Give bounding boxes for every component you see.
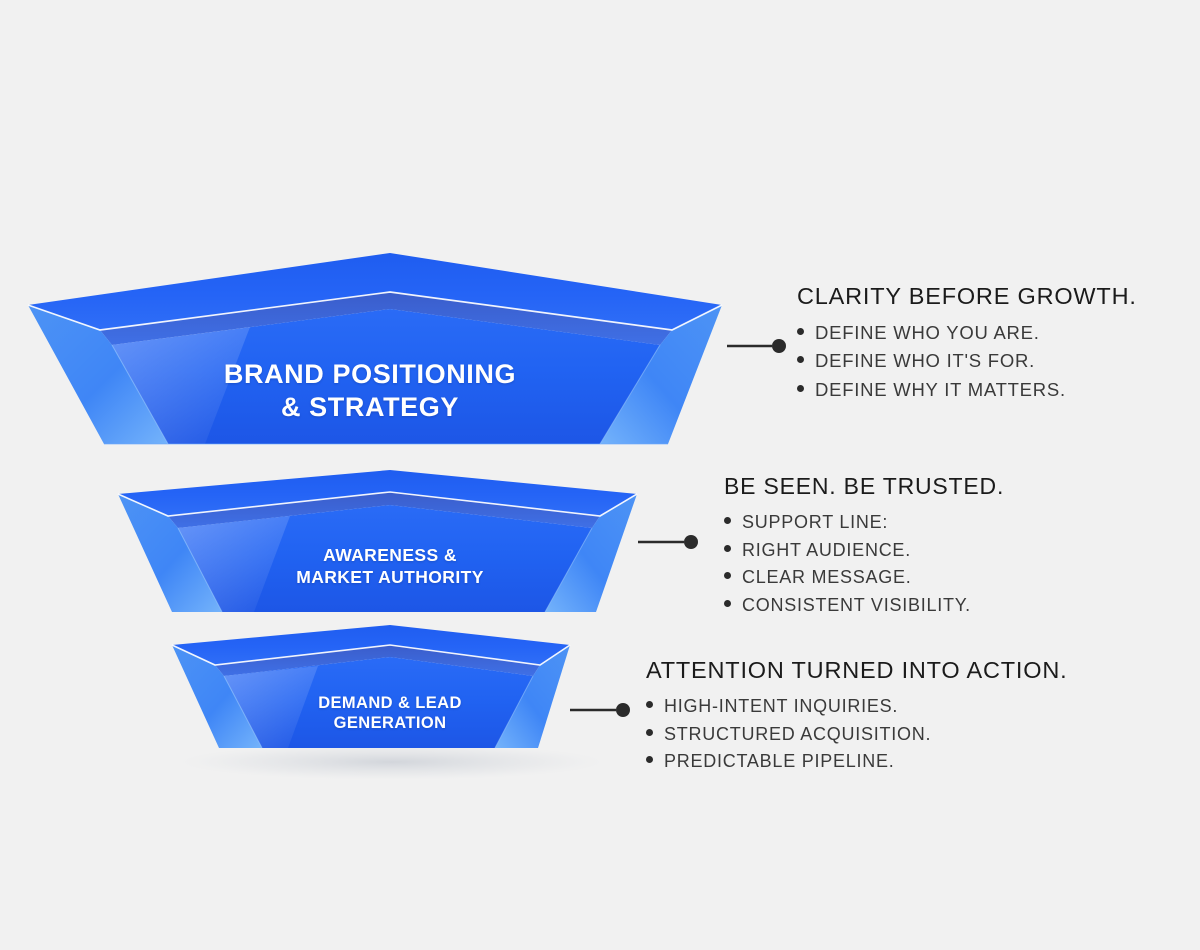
funnel-graphic: [0, 0, 1200, 950]
connector-brand-positioning: [727, 339, 786, 353]
info-bullet-list: DEFINE WHO YOU ARE. DEFINE WHO IT'S FOR.…: [797, 319, 1137, 404]
connector-demand: [570, 703, 630, 717]
funnel-tier-brand-positioning[interactable]: [28, 253, 722, 444]
bullet-dot-icon: [724, 572, 731, 579]
info-bullet-list: SUPPORT LINE: RIGHT AUDIENCE. CLEAR MESS…: [724, 509, 1004, 620]
info-block-demand: ATTENTION TURNED INTO ACTION. HIGH-INTEN…: [646, 657, 1067, 776]
funnel-base-shadow: [180, 744, 604, 780]
bullet-dot-icon: [724, 600, 731, 607]
list-item: DEFINE WHO IT'S FOR.: [797, 347, 1137, 375]
list-item: CONSISTENT VISIBILITY.: [724, 592, 1004, 620]
funnel-tier-awareness[interactable]: [118, 470, 637, 612]
info-block-brand-positioning: CLARITY BEFORE GROWTH. DEFINE WHO YOU AR…: [797, 283, 1137, 404]
connector-awareness: [638, 535, 698, 549]
bullet-text: PREDICTABLE PIPELINE.: [664, 748, 894, 776]
info-block-awareness: BE SEEN. BE TRUSTED. SUPPORT LINE: RIGHT…: [724, 473, 1004, 620]
bullet-dot-icon: [724, 545, 731, 552]
list-item: SUPPORT LINE:: [724, 509, 1004, 537]
list-item: STRUCTURED ACQUISITION.: [646, 721, 1067, 749]
bullet-dot-icon: [646, 756, 653, 763]
list-item: PREDICTABLE PIPELINE.: [646, 748, 1067, 776]
bullet-text: DEFINE WHO IT'S FOR.: [815, 347, 1035, 375]
bullet-text: DEFINE WHO YOU ARE.: [815, 319, 1040, 347]
list-item: DEFINE WHO YOU ARE.: [797, 319, 1137, 347]
info-heading: CLARITY BEFORE GROWTH.: [797, 283, 1137, 310]
bullet-dot-icon: [646, 729, 653, 736]
funnel-tier-demand[interactable]: [172, 625, 604, 780]
connector-dot: [772, 339, 786, 353]
connector-dot: [684, 535, 698, 549]
connector-dot: [616, 703, 630, 717]
bullet-dot-icon: [797, 356, 804, 363]
info-bullet-list: HIGH-INTENT INQUIRIES. STRUCTURED ACQUIS…: [646, 693, 1067, 776]
bullet-text: CONSISTENT VISIBILITY.: [742, 592, 971, 620]
list-item: DEFINE WHY IT MATTERS.: [797, 376, 1137, 404]
funnel-diagram-canvas: BRAND POSITIONING & STRATEGY AWARENESS &…: [0, 0, 1200, 950]
info-heading: ATTENTION TURNED INTO ACTION.: [646, 657, 1067, 684]
bullet-dot-icon: [797, 328, 804, 335]
list-item: HIGH-INTENT INQUIRIES.: [646, 693, 1067, 721]
bullet-dot-icon: [724, 517, 731, 524]
bullet-text: HIGH-INTENT INQUIRIES.: [664, 693, 898, 721]
bullet-text: SUPPORT LINE:: [742, 509, 888, 537]
list-item: CLEAR MESSAGE.: [724, 564, 1004, 592]
list-item: RIGHT AUDIENCE.: [724, 537, 1004, 565]
bullet-text: RIGHT AUDIENCE.: [742, 537, 911, 565]
bullet-text: STRUCTURED ACQUISITION.: [664, 721, 931, 749]
info-heading: BE SEEN. BE TRUSTED.: [724, 473, 1004, 500]
bullet-dot-icon: [797, 385, 804, 392]
bullet-text: CLEAR MESSAGE.: [742, 564, 912, 592]
bullet-text: DEFINE WHY IT MATTERS.: [815, 376, 1066, 404]
bullet-dot-icon: [646, 701, 653, 708]
